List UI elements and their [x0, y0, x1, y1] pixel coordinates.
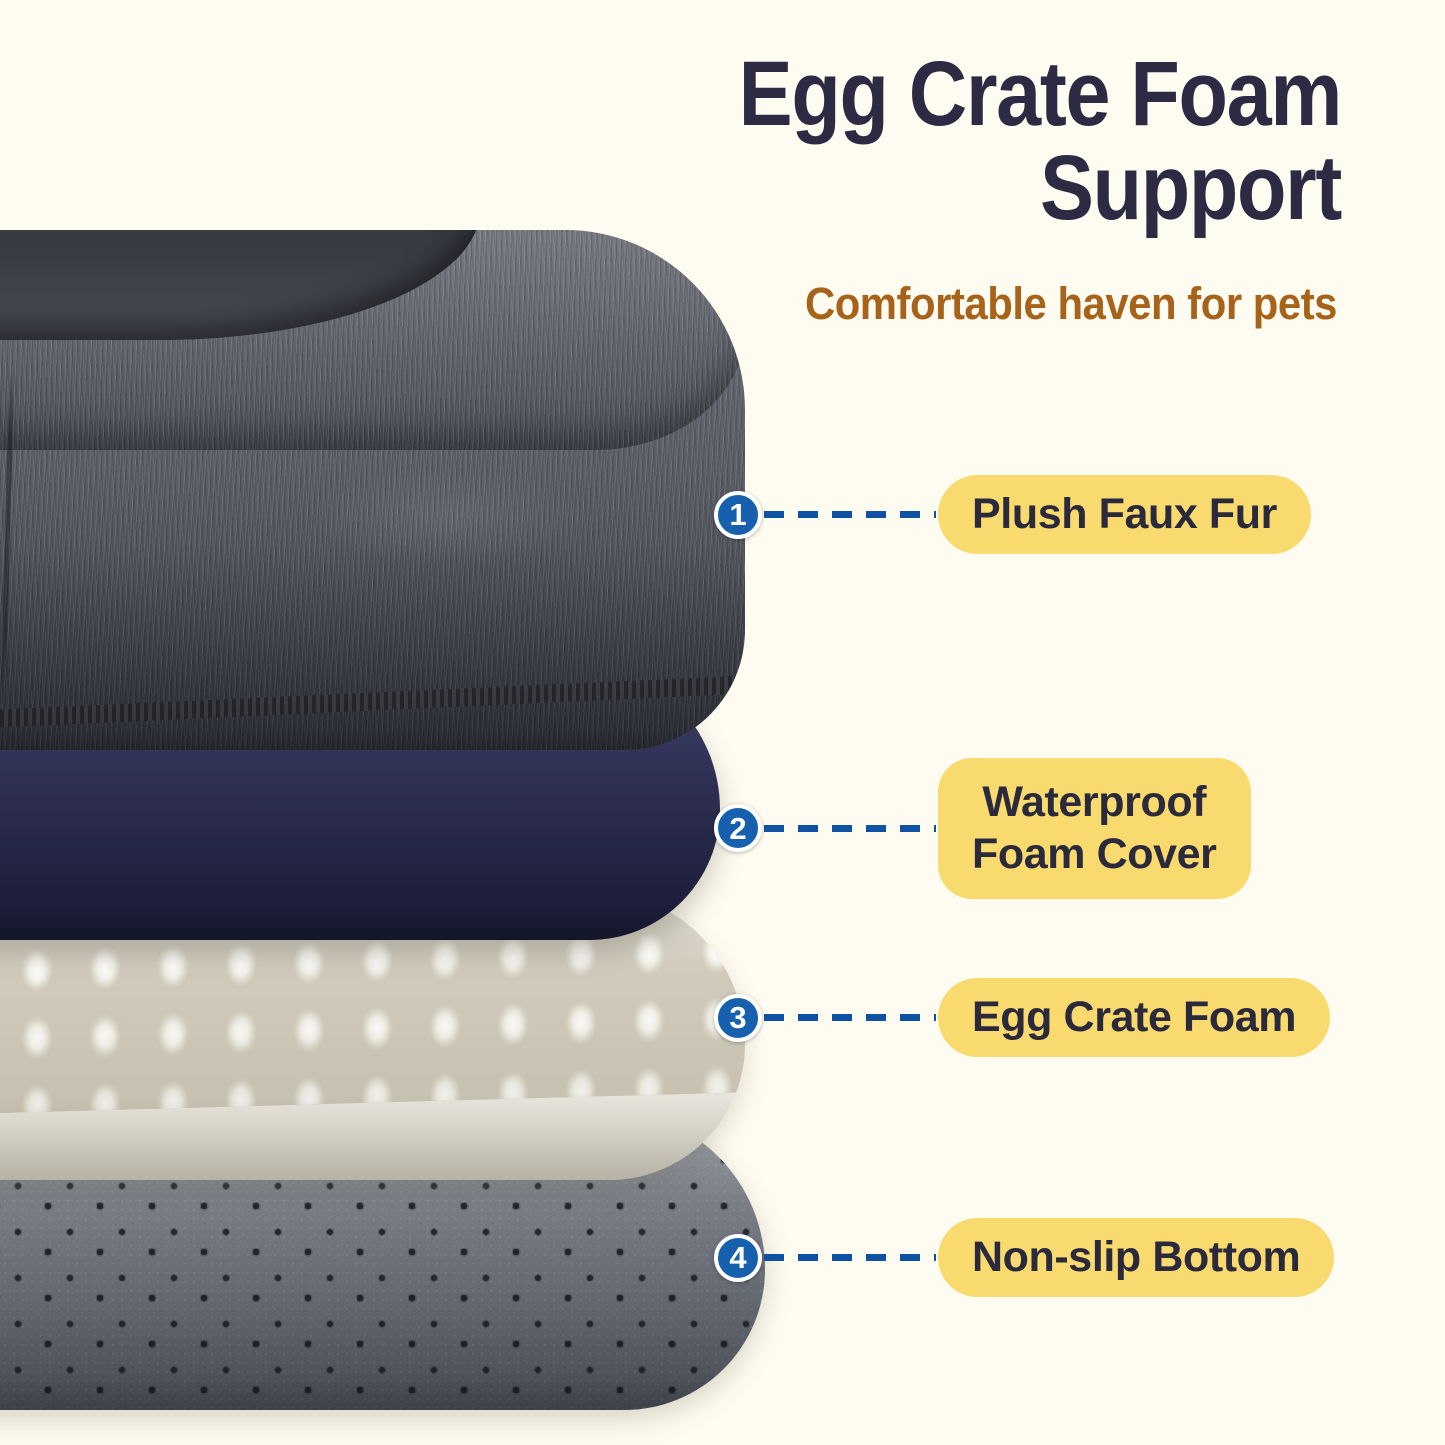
callout-leader-line-1: [764, 511, 936, 518]
plush-faux-fur-layer: [0, 230, 745, 750]
callout-waterproof-foam-cover: 2 Waterproof Foam Cover: [714, 758, 1251, 899]
callout-leader-line-4: [764, 1254, 936, 1261]
callout-badge-2: 2: [714, 804, 762, 852]
callout-badge-1: 1: [714, 491, 762, 539]
callout-leader-line-2: [764, 825, 936, 832]
callout-egg-crate-foam: 3 Egg Crate Foam: [714, 978, 1330, 1057]
callout-label-2: Waterproof Foam Cover: [938, 758, 1251, 899]
page-title-line-2: Support: [619, 142, 1341, 236]
faux-fur-shading: [0, 230, 745, 750]
infographic-canvas: Egg Crate Foam Support Comfortable haven…: [0, 0, 1445, 1445]
callout-label-4: Non-slip Bottom: [938, 1218, 1334, 1297]
callout-label-3: Egg Crate Foam: [938, 978, 1330, 1057]
callout-badge-4: 4: [714, 1234, 762, 1282]
callout-non-slip-bottom: 4 Non-slip Bottom: [714, 1218, 1334, 1297]
page-title-line-1: Egg Crate Foam: [619, 48, 1341, 142]
callout-label-1: Plush Faux Fur: [938, 475, 1311, 554]
callout-badge-3: 3: [714, 994, 762, 1042]
page-subtitle: Comfortable haven for pets: [686, 278, 1337, 330]
page-title: Egg Crate Foam Support: [521, 48, 1341, 236]
callout-leader-line-3: [764, 1014, 936, 1021]
product-layer-stack-image: [0, 230, 800, 1445]
callout-plush-faux-fur: 1 Plush Faux Fur: [714, 475, 1311, 554]
